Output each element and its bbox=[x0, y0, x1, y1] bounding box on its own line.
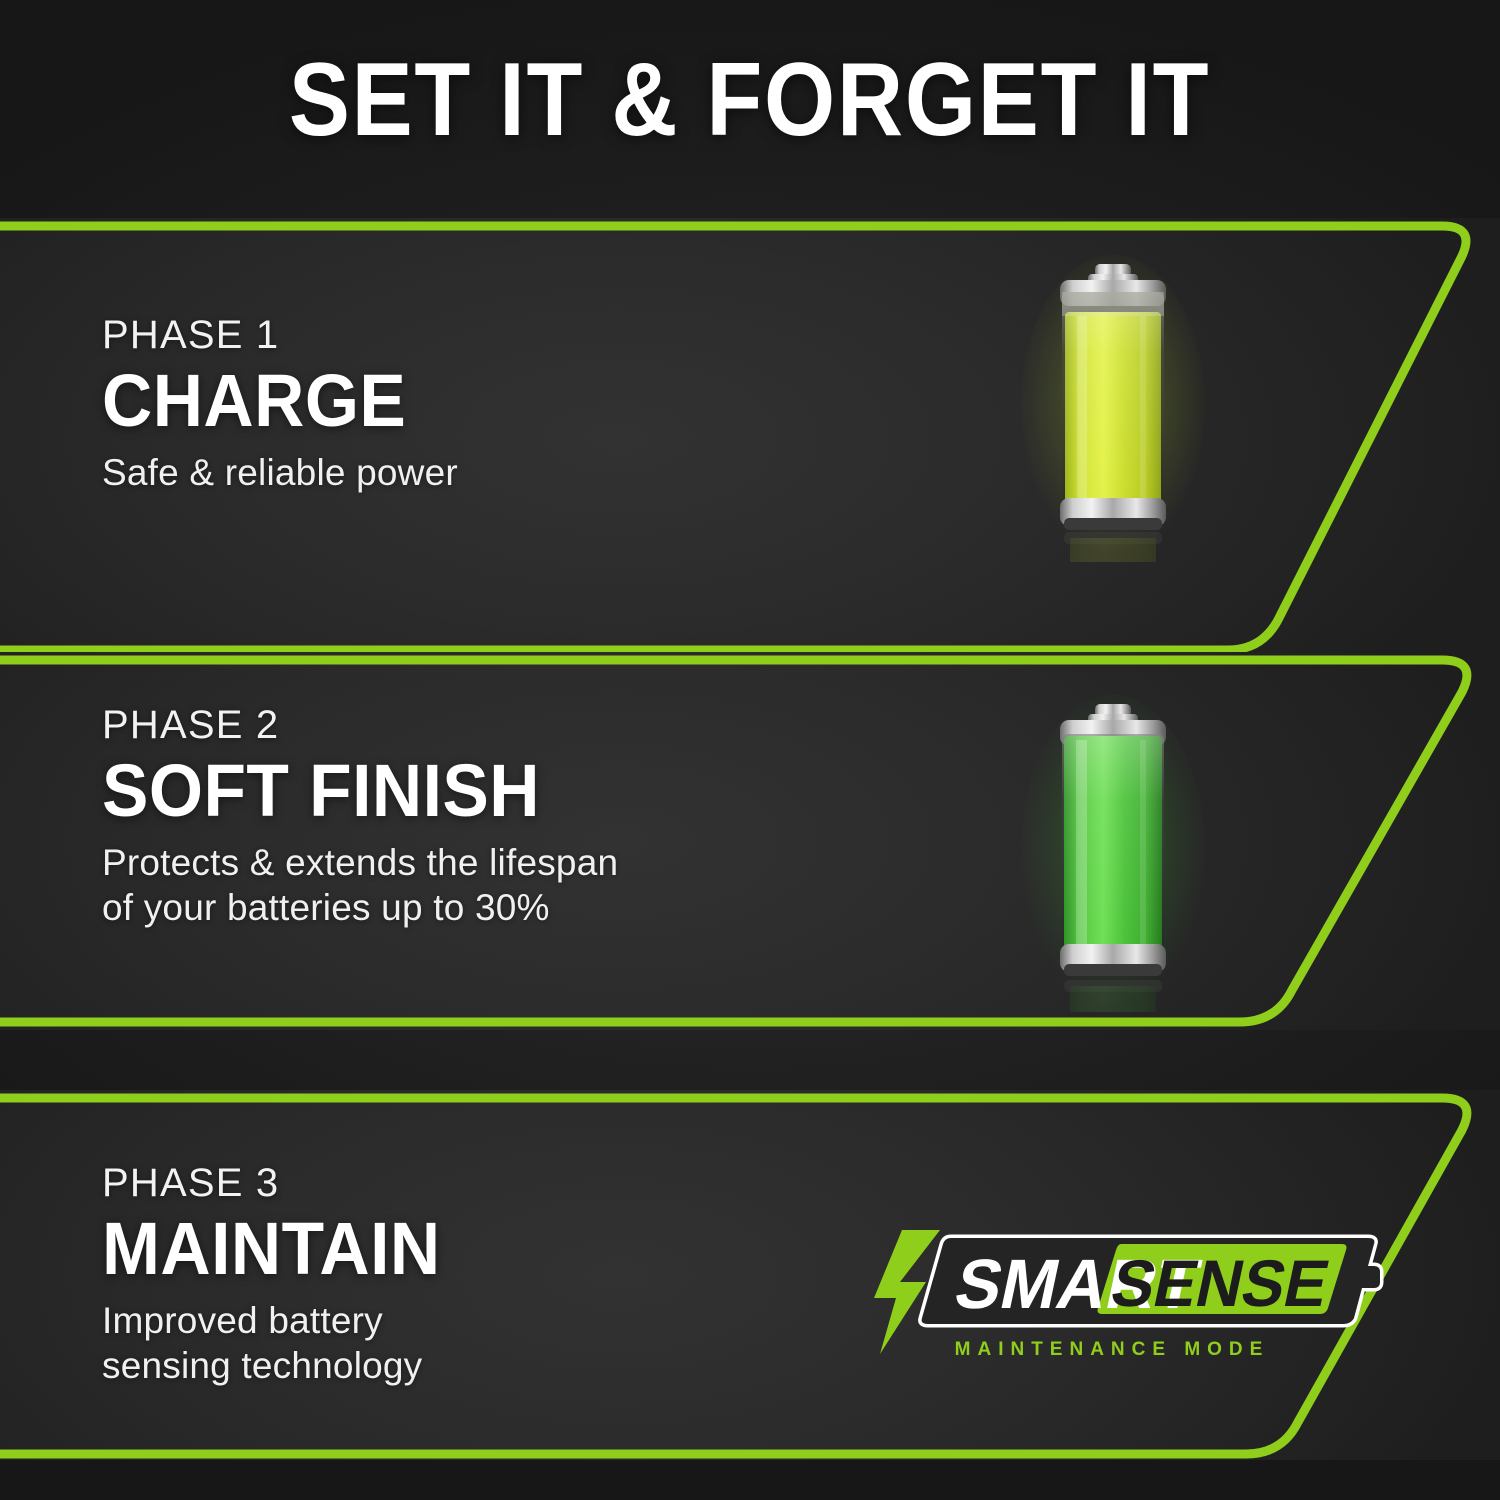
phase-1-text-block: PHASE 1 CHARGE Safe & reliable power bbox=[102, 314, 458, 495]
phase-2-title: SOFT FINISH bbox=[102, 754, 587, 828]
phase-2-description-line-2: of your batteries up to 30% bbox=[102, 885, 618, 930]
phase-3-description-line-1: Improved battery bbox=[102, 1300, 383, 1341]
phase-3-label: PHASE 3 bbox=[102, 1162, 462, 1204]
phase-2-description-line-1: Protects & extends the lifespan bbox=[102, 842, 618, 883]
phase-2-label: PHASE 2 bbox=[102, 704, 618, 746]
battery-icon-phase-2 bbox=[1018, 690, 1208, 1020]
phase-card-1: PHASE 1 CHARGE Safe & reliable power bbox=[0, 218, 1500, 658]
logo-word-sense: SENSE bbox=[1105, 1247, 1335, 1321]
logo-tagline: MAINTENANCE MODE bbox=[955, 1339, 1270, 1360]
phase-2-description: Protects & extends the lifespan of your … bbox=[102, 840, 618, 930]
battery-icon-phase-1 bbox=[1018, 250, 1208, 570]
phase-1-description: Safe & reliable power bbox=[102, 450, 458, 495]
smartsense-logo: SMART SENSE MAINTENANCE MODE bbox=[822, 1222, 1402, 1362]
phase-1-title: CHARGE bbox=[102, 364, 437, 438]
poster-root: SET IT & FORGET IT PHASE 1 CHARGE Safe &… bbox=[0, 0, 1500, 1500]
phase-card-2: PHASE 2 SOFT FINISH Protects & extends t… bbox=[0, 652, 1500, 1030]
phase-3-description: Improved battery sensing technology bbox=[102, 1298, 462, 1388]
page-title-container: SET IT & FORGET IT bbox=[0, 48, 1500, 152]
phase-3-description-line-2: sensing technology bbox=[102, 1343, 462, 1388]
phase-2-text-block: PHASE 2 SOFT FINISH Protects & extends t… bbox=[102, 704, 618, 930]
phase-1-label: PHASE 1 bbox=[102, 314, 458, 356]
page-title: SET IT & FORGET IT bbox=[289, 48, 1210, 152]
phase-3-text-block: PHASE 3 MAINTAIN Improved battery sensin… bbox=[102, 1162, 462, 1388]
phase-3-title: MAINTAIN bbox=[102, 1212, 441, 1286]
